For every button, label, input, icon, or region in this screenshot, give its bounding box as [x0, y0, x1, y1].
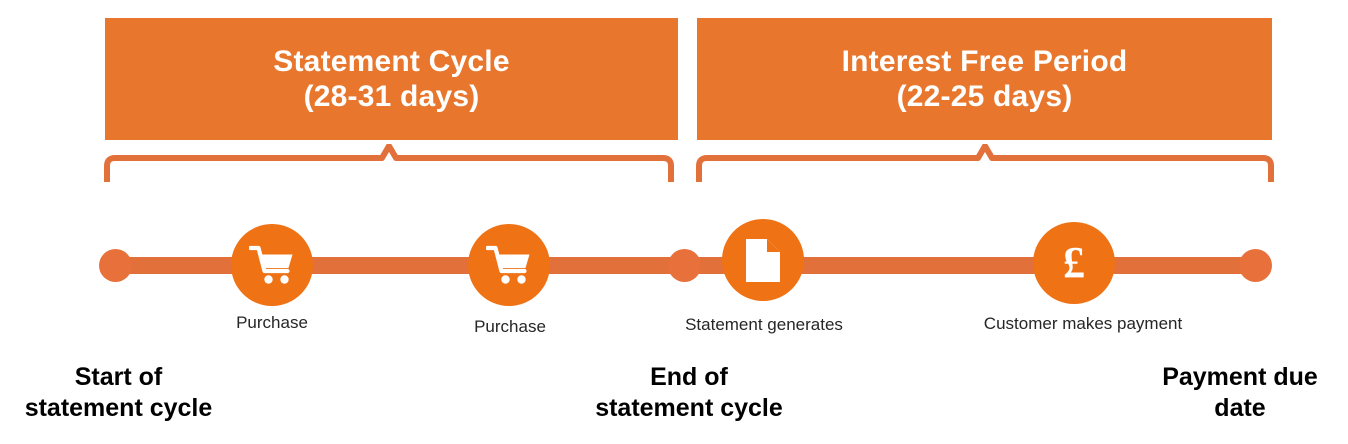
event-node-purchase-1[interactable]	[231, 224, 313, 306]
event-node-statement-generates[interactable]	[722, 219, 804, 301]
event-node-purchase-2[interactable]	[468, 224, 550, 306]
event-caption-customer-payment: Customer makes payment	[975, 314, 1191, 334]
milestone-label-start: Start of statement cycle	[0, 362, 237, 425]
period-banner-title: Statement Cycle	[273, 44, 509, 79]
shopping-cart-icon	[249, 244, 295, 286]
period-banner-subtitle: (22-25 days)	[897, 79, 1073, 114]
document-icon	[746, 239, 780, 282]
event-node-customer-payment[interactable]: £	[1033, 222, 1115, 304]
brace-statement-cycle	[100, 144, 678, 184]
event-caption-purchase-1: Purchase	[180, 313, 364, 333]
milestone-label-end: End of statement cycle	[555, 362, 823, 425]
period-banner-title: Interest Free Period	[842, 44, 1128, 79]
timeline-dot-end	[1239, 249, 1272, 282]
milestone-label-line1: End of	[555, 362, 823, 393]
event-caption-statement-generates: Statement generates	[672, 315, 856, 335]
milestone-label-line1: Payment due	[1132, 362, 1348, 393]
period-banner-statement-cycle: Statement Cycle (28-31 days)	[105, 18, 678, 140]
brace-interest-free	[692, 144, 1278, 184]
pound-sterling-icon: £	[1063, 241, 1085, 285]
period-banner-interest-free: Interest Free Period (22-25 days)	[697, 18, 1272, 140]
shopping-cart-icon	[486, 244, 532, 286]
milestone-label-payment-due: Payment due date	[1132, 362, 1348, 425]
period-banner-subtitle: (28-31 days)	[304, 79, 480, 114]
milestone-label-line2: date	[1132, 393, 1348, 424]
timeline-dot-middle	[668, 249, 701, 282]
timeline-diagram: Statement Cycle (28-31 days) Interest Fr…	[0, 0, 1348, 444]
milestone-label-line2: statement cycle	[0, 393, 237, 424]
milestone-label-line2: statement cycle	[555, 393, 823, 424]
milestone-label-line1: Start of	[0, 362, 237, 393]
timeline-dot-start	[99, 249, 132, 282]
event-caption-purchase-2: Purchase	[418, 317, 602, 337]
